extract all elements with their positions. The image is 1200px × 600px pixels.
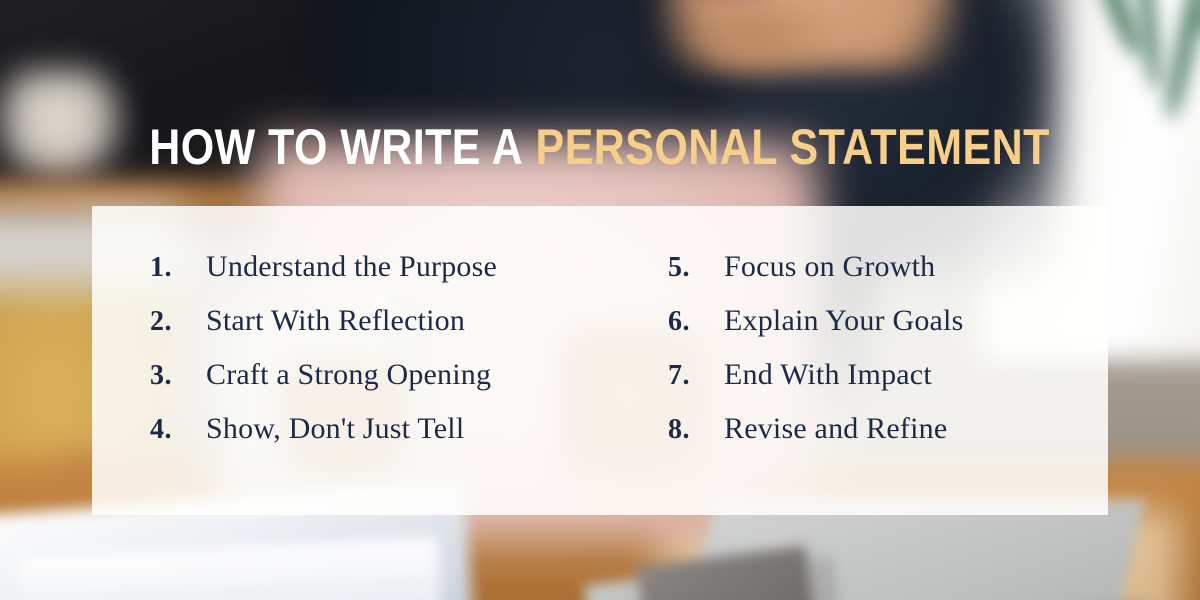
list-item: 8. Revise and Refine [668,412,1108,466]
title-band: How To Write A Personal Statement [92,88,1108,206]
page-title-highlight: Personal Statement [536,119,1050,175]
list-item: 4. Show, Don't Just Tell [150,412,590,466]
list-item: 1. Understand the Purpose [150,250,590,304]
list-item-number: 7. [668,360,724,392]
list-item: 6. Explain Your Goals [668,304,1108,358]
list-item-label: Understand the Purpose [206,250,497,284]
list-item-number: 6. [668,306,724,338]
list-item-label: Focus on Growth [724,250,935,284]
list-item-number: 3. [150,360,206,392]
list-item-number: 1. [150,252,206,284]
list-item-number: 5. [668,252,724,284]
list-item-label: Show, Don't Just Tell [206,412,464,446]
page-title: How To Write A Personal Statement [150,122,1050,172]
list-item-label: Revise and Refine [724,412,947,446]
steps-panel: 1. Understand the Purpose 2. Start With … [92,206,1108,515]
list-item: 7. End With Impact [668,358,1108,412]
page-title-space [524,119,536,175]
list-item: 2. Start With Reflection [150,304,590,358]
page-title-primary: How To Write A [150,119,524,175]
list-item: 3. Craft a Strong Opening [150,358,590,412]
person-chin [670,6,840,76]
list-item-label: Explain Your Goals [724,304,963,338]
steps-column-right: 5. Focus on Growth 6. Explain Your Goals… [590,206,1108,515]
list-item: 5. Focus on Growth [668,250,1108,304]
steps-column-left: 1. Understand the Purpose 2. Start With … [92,206,590,515]
list-item-number: 2. [150,306,206,338]
list-item-number: 4. [150,414,206,446]
list-item-number: 8. [668,414,724,446]
infographic-canvas: How To Write A Personal Statement 1. Und… [0,0,1200,600]
list-item-label: Start With Reflection [206,304,465,338]
list-item-label: End With Impact [724,358,932,392]
list-item-label: Craft a Strong Opening [206,358,491,392]
